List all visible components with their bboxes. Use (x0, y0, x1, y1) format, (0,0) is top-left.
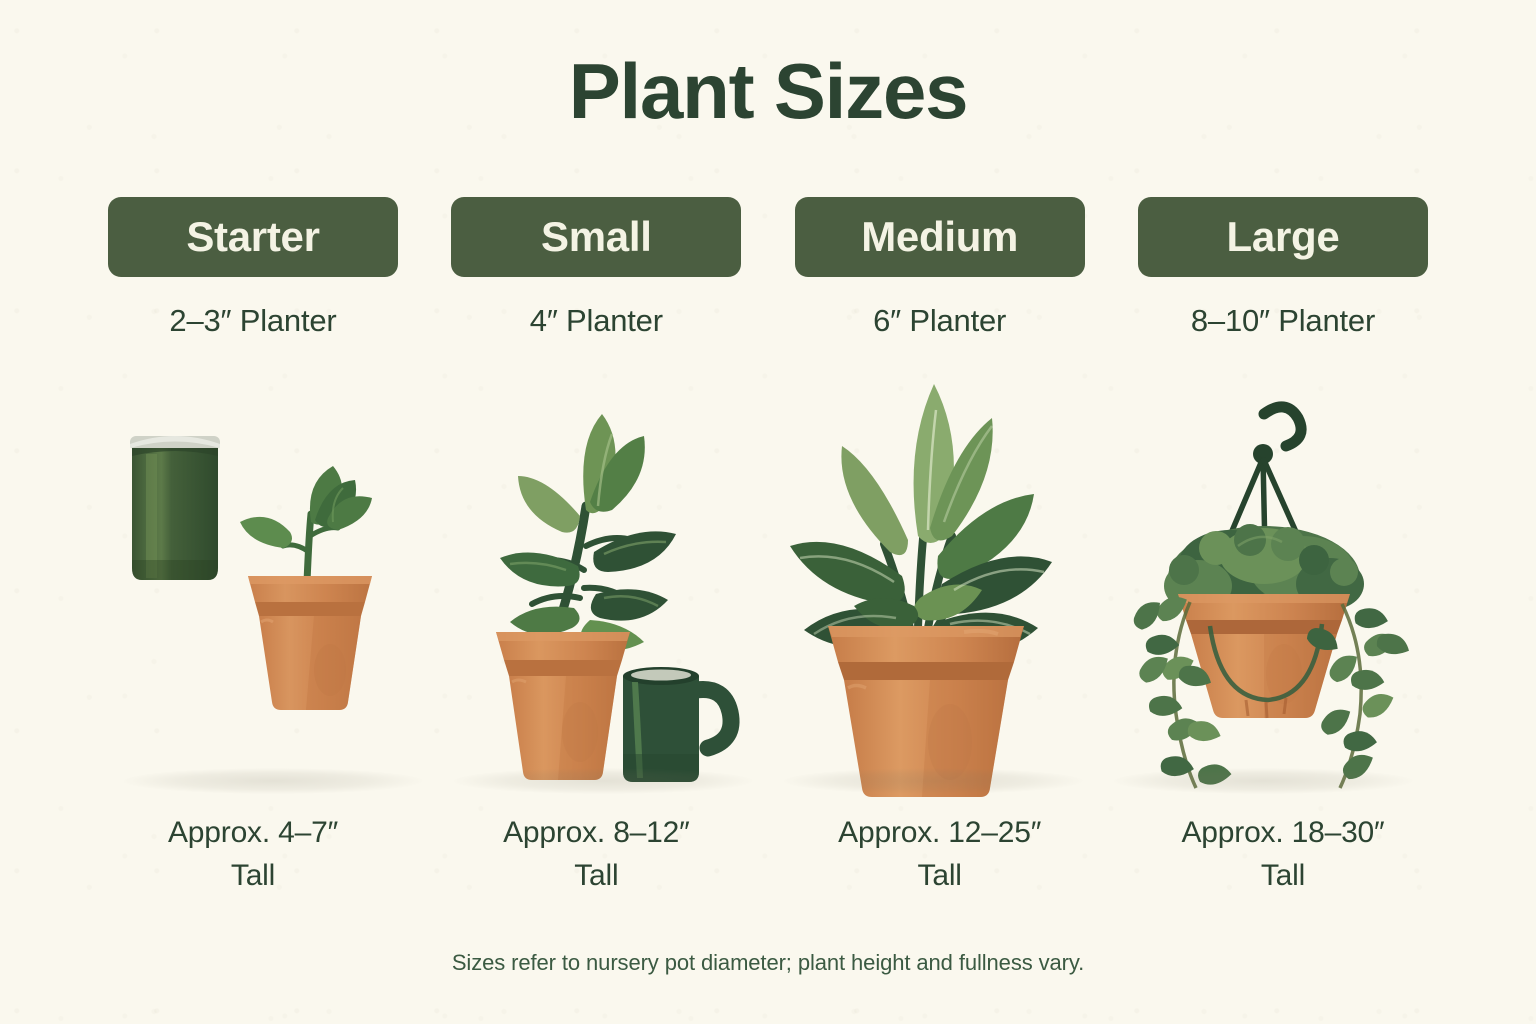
size-column-large: Large 8–10″ Planter (1138, 197, 1428, 339)
height-caption-medium: Approx. 12–25″ Tall (795, 812, 1085, 897)
mug-icon (623, 667, 731, 782)
height-caption-line1: Approx. 8–12″ (451, 812, 741, 855)
height-caption-line2: Tall (108, 855, 398, 898)
planter-size-medium: 6″ Planter (873, 303, 1006, 339)
small-illustration-svg (438, 370, 768, 800)
ground-shadow (1113, 768, 1413, 794)
illustration-small (438, 370, 768, 800)
size-badge-small[interactable]: Small (451, 197, 741, 277)
infographic-page: Plant Sizes Starter 2–3″ Planter Small 4… (0, 0, 1536, 1024)
height-caption-row: Approx. 4–7″ Tall Approx. 8–12″ Tall App… (108, 812, 1428, 897)
height-caption-line1: Approx. 18–30″ (1138, 812, 1428, 855)
height-caption-line1: Approx. 4–7″ (108, 812, 398, 855)
trailing-vine-right (1304, 604, 1413, 788)
page-title: Plant Sizes (0, 52, 1536, 130)
planter-size-small: 4″ Planter (530, 303, 663, 339)
seedling-plant (240, 466, 372, 582)
large-illustration-svg (1098, 370, 1428, 800)
illustration-medium (768, 370, 1098, 800)
planter-size-starter: 2–3″ Planter (169, 303, 336, 339)
height-caption-line1: Approx. 12–25″ (795, 812, 1085, 855)
illustration-starter (108, 370, 438, 800)
size-badge-large[interactable]: Large (1138, 197, 1428, 277)
height-caption-line2: Tall (795, 855, 1085, 898)
height-caption-small: Approx. 8–12″ Tall (451, 812, 741, 897)
hanging-basket-pot (1178, 594, 1350, 718)
illustration-stage (108, 370, 1428, 800)
footnote-text: Sizes refer to nursery pot diameter; pla… (0, 950, 1536, 976)
terracotta-pot-starter (248, 576, 372, 710)
size-column-starter: Starter 2–3″ Planter (108, 197, 398, 339)
illustration-large (1098, 370, 1428, 800)
bushy-plant (790, 384, 1052, 652)
height-caption-starter: Approx. 4–7″ Tall (108, 812, 398, 897)
height-caption-large: Approx. 18–30″ Tall (1138, 812, 1428, 897)
ground-shadow (783, 768, 1083, 794)
ground-shadow (123, 768, 423, 794)
height-caption-line2: Tall (1138, 855, 1428, 898)
size-badge-starter[interactable]: Starter (108, 197, 398, 277)
leafy-plant (500, 414, 676, 651)
size-column-medium: Medium 6″ Planter (795, 197, 1085, 339)
starter-illustration-svg (108, 370, 438, 800)
medium-illustration-svg (768, 370, 1098, 800)
terracotta-pot-small (496, 632, 630, 780)
soda-can-icon (130, 436, 220, 580)
size-column-small: Small 4″ Planter (451, 197, 741, 339)
planter-size-large: 8–10″ Planter (1191, 303, 1375, 339)
size-badge-row: Starter 2–3″ Planter Small 4″ Planter Me… (108, 197, 1428, 339)
ground-shadow (453, 768, 753, 794)
height-caption-line2: Tall (451, 855, 741, 898)
size-badge-medium[interactable]: Medium (795, 197, 1085, 277)
